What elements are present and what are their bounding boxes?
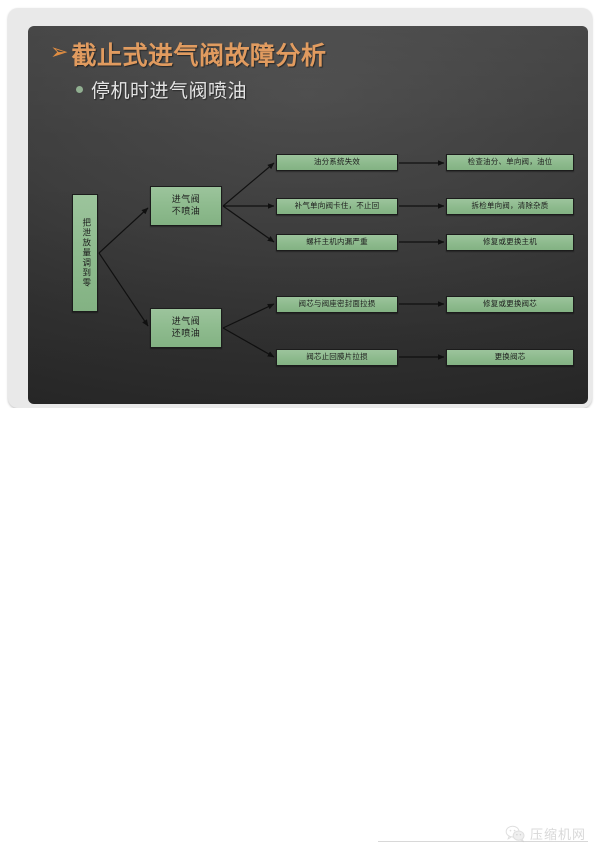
node-root[interactable]: 把泄放量调到零 (72, 194, 98, 312)
node-branch-line1: 进气阀 (172, 316, 201, 328)
node-cause[interactable]: 螺杆主机内漏严重 (276, 234, 398, 251)
node-cause[interactable]: 补气单向阀卡住，不止回 (276, 198, 398, 215)
node-branch-line1: 进气阀 (172, 194, 201, 206)
node-action[interactable]: 拆检单向阀，清除杂质 (446, 198, 574, 215)
node-cause[interactable]: 阀芯止回膜片拉损 (276, 349, 398, 366)
node-action[interactable]: 检查油分、单向阀，油位 (446, 154, 574, 171)
connector-lines (28, 26, 588, 404)
node-branch-line2: 还喷油 (172, 328, 201, 340)
node-action[interactable]: 修复或更换阀芯 (446, 296, 574, 313)
slide-canvas: ➢ 截止式进气阀故障分析 停机时进气阀喷油 (28, 26, 588, 404)
slide-frame: ➢ 截止式进气阀故障分析 停机时进气阀喷油 (8, 8, 592, 408)
node-action[interactable]: 修复或更换主机 (446, 234, 574, 251)
node-branch-no-oil-spray[interactable]: 进气阀 不喷油 (150, 186, 222, 226)
node-cause[interactable]: 油分系统失效 (276, 154, 398, 171)
node-branch-still-oil-spray[interactable]: 进气阀 还喷油 (150, 308, 222, 348)
flowchart-diagram: 把泄放量调到零 进气阀 不喷油 进气阀 还喷油 油分系统失效 补气单向阀卡住，不… (28, 26, 588, 404)
footer: 压缩机网 (0, 408, 600, 450)
watermark: 压缩机网 (505, 824, 586, 843)
wechat-icon (505, 825, 525, 843)
node-branch-line2: 不喷油 (172, 206, 201, 218)
watermark-text: 压缩机网 (530, 824, 586, 843)
slide-root: ➢ 截止式进气阀故障分析 停机时进气阀喷油 (0, 0, 600, 450)
node-cause[interactable]: 阀芯与阀座密封面拉损 (276, 296, 398, 313)
node-action[interactable]: 更换阀芯 (446, 349, 574, 366)
